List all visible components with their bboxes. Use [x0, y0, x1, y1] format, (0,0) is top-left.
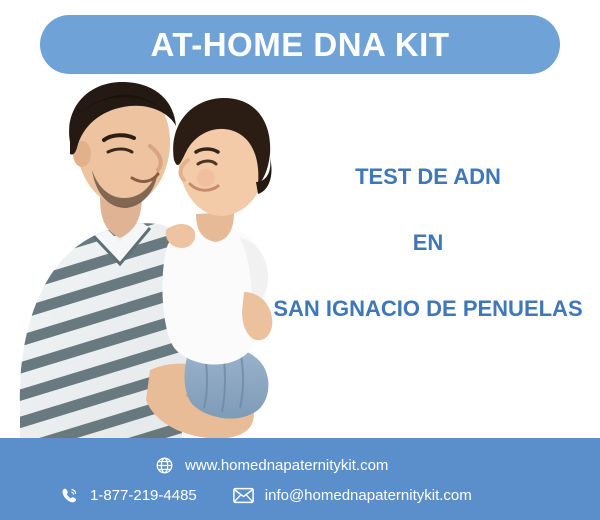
headline-block: TEST DE ADN EN SAN IGNACIO DE PENUELAS [252, 160, 600, 320]
headline-line-location: SAN IGNACIO DE PENUELAS [252, 298, 600, 320]
header-banner: AT-HOME DNA KIT [40, 15, 560, 74]
footer-email-item[interactable]: info@homednapaternitykit.com [233, 487, 472, 504]
phone-icon [60, 486, 79, 505]
footer-website-label: www.homednapaternitykit.com [185, 457, 388, 474]
footer-phone-item[interactable]: 1-877-219-4485 [60, 486, 197, 505]
headline-line-preposition: EN [252, 232, 600, 254]
promo-banner-page: AT-HOME DNA KIT [0, 0, 600, 520]
footer-email-label: info@homednapaternitykit.com [265, 487, 472, 504]
page-title: AT-HOME DNA KIT [151, 28, 450, 61]
footer-phone-label: 1-877-219-4485 [90, 487, 197, 504]
footer-contact-bar: www.homednapaternitykit.com 1-877-219-44… [0, 438, 600, 520]
footer-website-row: www.homednapaternitykit.com [155, 456, 388, 475]
envelope-icon [233, 487, 254, 504]
globe-icon [155, 456, 174, 475]
footer-website-item[interactable]: www.homednapaternitykit.com [155, 456, 388, 475]
headline-line-service: TEST DE ADN [252, 166, 600, 188]
footer-contact-row: 1-877-219-4485 info@homednapaternitykit.… [60, 486, 472, 505]
